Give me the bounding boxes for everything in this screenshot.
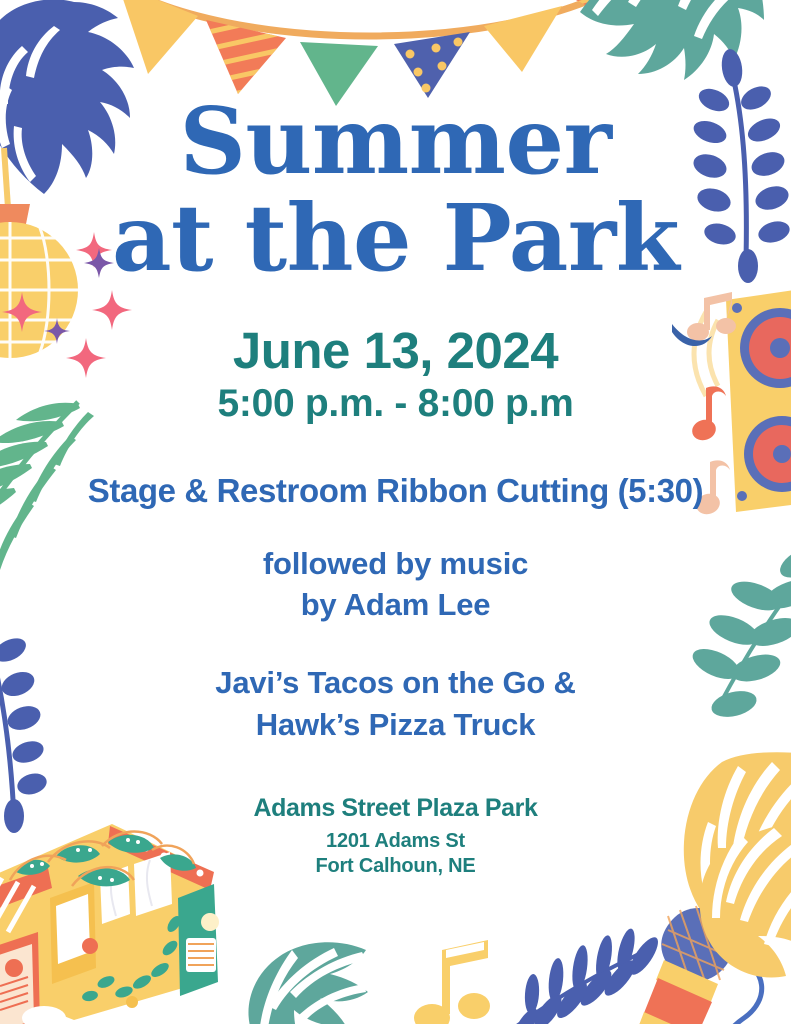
venue-info: Adams Street Plaza Park 1201 Adams St Fo… (0, 794, 791, 879)
music-line-2: by Adam Lee (0, 585, 791, 626)
event-date: June 13, 2024 (0, 324, 791, 378)
poster-title: Summer at the Park (0, 96, 791, 286)
music-line-1: followed by music (0, 544, 791, 585)
food-vendors: Javi’s Tacos on the Go & Hawk’s Pizza Tr… (0, 662, 791, 746)
microphone-icon (610, 888, 770, 1024)
venue-address: 1201 Adams St Fort Calhoun, NE (0, 829, 791, 879)
fern-branch-blue-icon (508, 944, 658, 1024)
event-date-time: June 13, 2024 5:00 p.m. - 8:00 p.m (0, 324, 791, 426)
food-line-1: Javi’s Tacos on the Go & (0, 662, 791, 704)
event-poster: Summer at the Park June 13, 2024 5:00 p.… (0, 0, 791, 1024)
monstera-leaf-teal-icon (242, 940, 412, 1024)
venue-city: Fort Calhoun, NE (0, 854, 791, 879)
title-line-1: Summer (0, 96, 791, 186)
event-time: 5:00 p.m. - 8:00 p.m (0, 382, 791, 427)
venue-name: Adams Street Plaza Park (0, 794, 791, 823)
music-details: followed by music by Adam Lee (0, 544, 791, 626)
title-line-2: at the Park (0, 192, 791, 286)
poster-content: Summer at the Park June 13, 2024 5:00 p.… (0, 0, 791, 879)
food-line-2: Hawk’s Pizza Truck (0, 704, 791, 746)
ribbon-cutting-line: Stage & Restroom Ribbon Cutting (5:30) (0, 472, 791, 510)
event-details: Stage & Restroom Ribbon Cutting (5:30) f… (0, 472, 791, 746)
venue-street: 1201 Adams St (0, 829, 791, 854)
music-note-yellow-icon (412, 938, 502, 1024)
